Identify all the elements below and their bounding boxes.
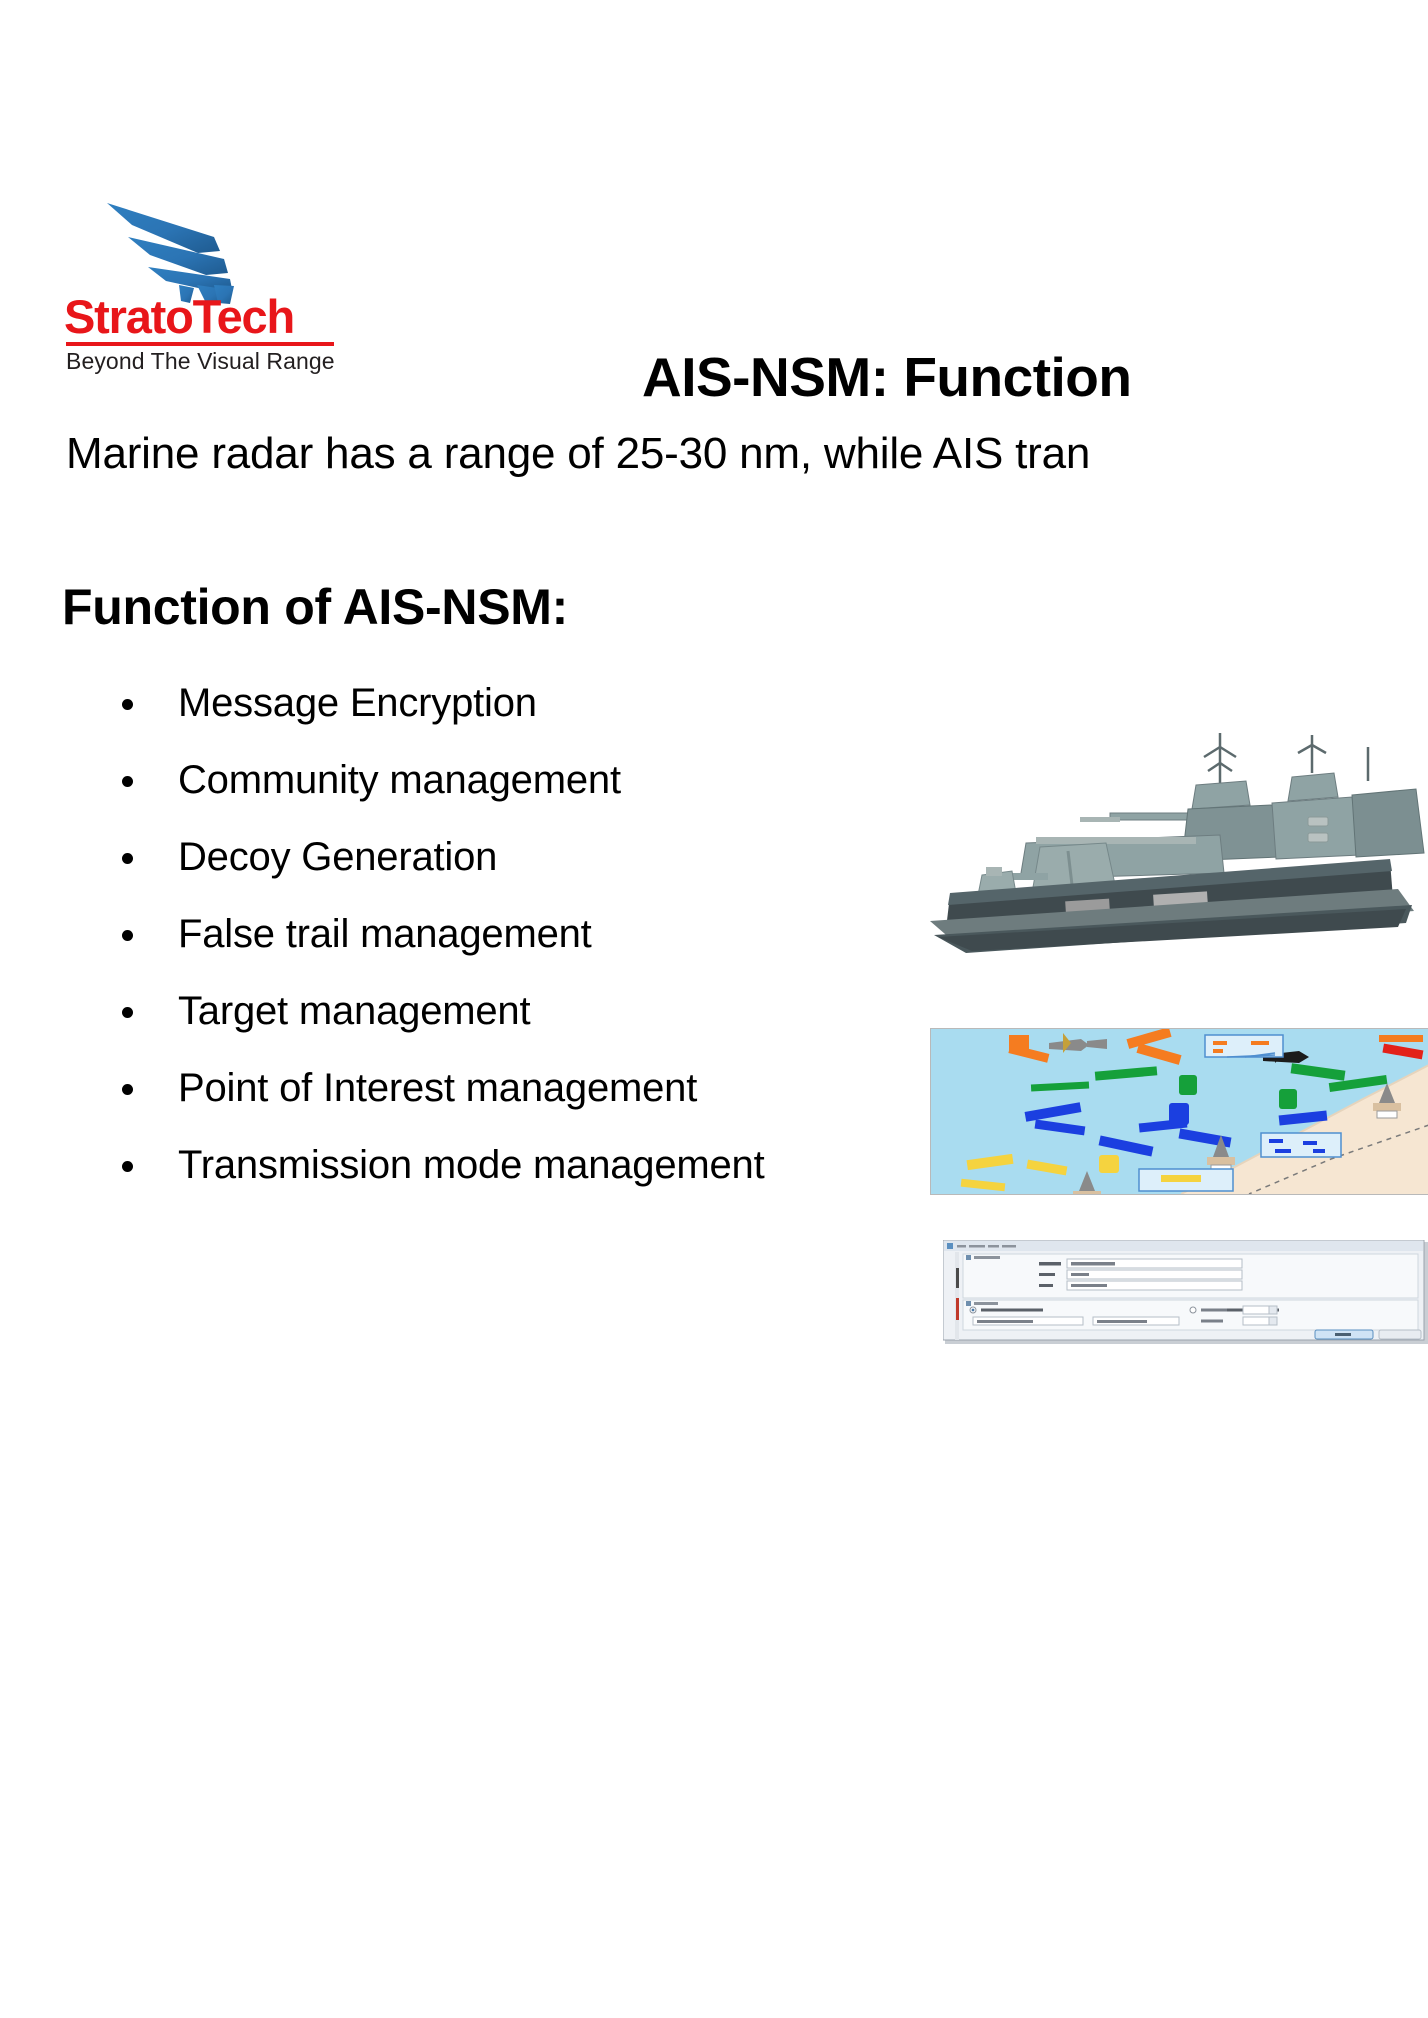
list-item-label: False trail management — [178, 912, 592, 956]
bullet-dot-icon — [122, 1161, 133, 1172]
list-item-label: Target management — [178, 989, 530, 1033]
presentation-slide: StratoTech Beyond The Visual Range AIS-N… — [0, 0, 1428, 2018]
list-item: Transmission mode management — [110, 1127, 1010, 1204]
bullet-dot-icon — [122, 930, 133, 941]
bullet-dot-icon — [122, 853, 133, 864]
warship-illustration — [920, 725, 1428, 955]
list-item-label: Community management — [178, 758, 621, 802]
logo-wordmark: StratoTech — [64, 293, 294, 340]
bullet-dot-icon — [122, 776, 133, 787]
list-item-label: Decoy Generation — [178, 835, 497, 879]
bullet-dot-icon — [122, 699, 133, 710]
logo-tagline: Beyond The Visual Range — [66, 348, 335, 375]
list-item: Community management — [110, 742, 1010, 819]
list-item-label: Transmission mode management — [178, 1143, 765, 1187]
wing-logo-icon — [102, 185, 267, 305]
page-title: AIS-NSM: Function — [642, 347, 1131, 408]
configuration-dialog-screenshot — [943, 1240, 1428, 1350]
list-item: Point of Interest management — [110, 1050, 1010, 1127]
bullet-dot-icon — [122, 1084, 133, 1095]
list-item-label: Message Encryption — [178, 681, 537, 725]
bullet-dot-icon — [122, 1007, 133, 1018]
list-item: False trail management — [110, 896, 1010, 973]
list-item: Decoy Generation — [110, 819, 1010, 896]
logo-divider — [66, 342, 334, 346]
maritime-situation-map — [930, 1028, 1428, 1195]
slide-subtitle: Marine radar has a range of 25-30 nm, wh… — [66, 428, 1090, 481]
list-item: Message Encryption — [110, 665, 1010, 742]
list-item-label: Point of Interest management — [178, 1066, 697, 1110]
function-bullet-list: Message Encryption Community management … — [110, 665, 1010, 1204]
list-item: Target management — [110, 973, 1010, 1050]
section-heading: Function of AIS-NSM: — [62, 580, 568, 635]
